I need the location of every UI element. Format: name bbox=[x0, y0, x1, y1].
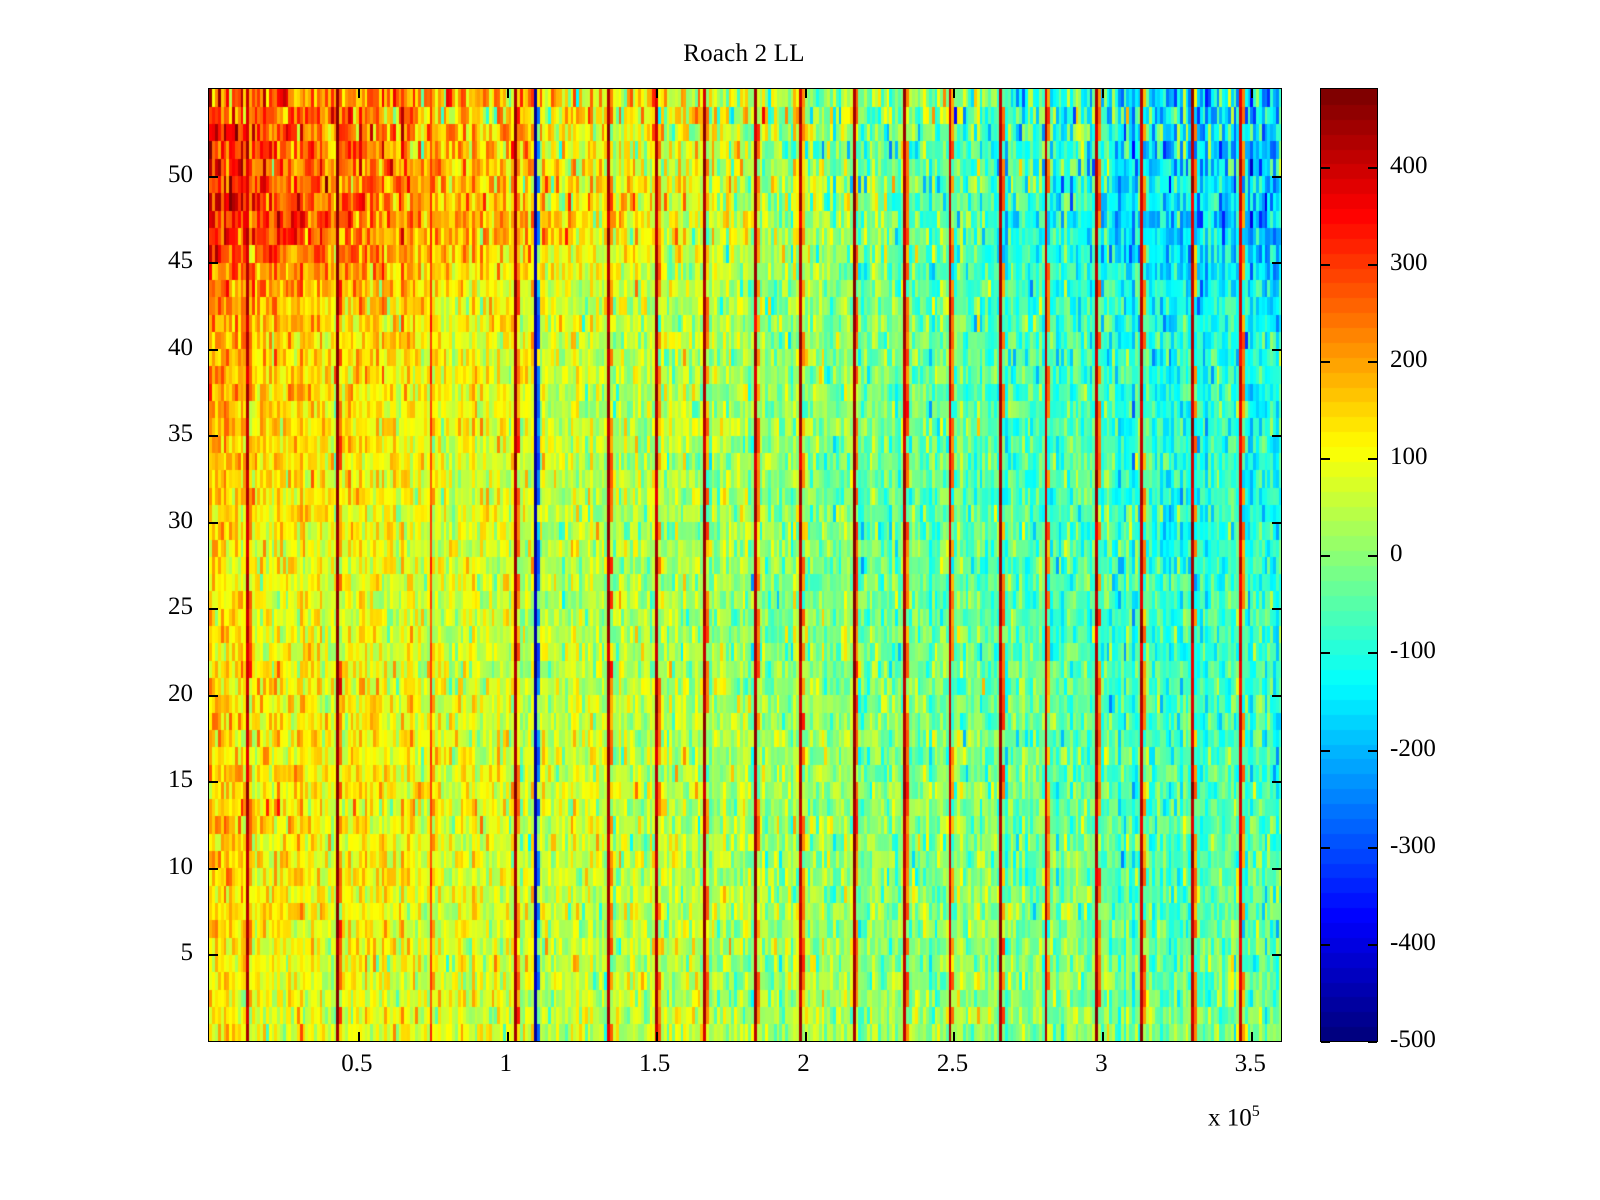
y-tick-mark-right bbox=[1272, 868, 1281, 870]
y-tick-mark bbox=[209, 522, 218, 524]
colorbar-tick-label: -100 bbox=[1390, 637, 1436, 665]
x-tick-label: 2 bbox=[744, 1050, 864, 1078]
y-tick-mark-right bbox=[1272, 695, 1281, 697]
y-tick-mark-right bbox=[1272, 349, 1281, 351]
x-tick-label: 3.5 bbox=[1190, 1050, 1310, 1078]
colorbar-tick-label: 400 bbox=[1390, 152, 1428, 180]
colorbar-tick-label: 200 bbox=[1390, 346, 1428, 374]
x-tick-mark bbox=[953, 1032, 955, 1041]
colorbar-tick-mark bbox=[1321, 944, 1330, 946]
x-tick-label: 0.5 bbox=[297, 1050, 417, 1078]
chart-title: Roach 2 LL bbox=[208, 40, 1280, 68]
y-tick-mark-right bbox=[1272, 262, 1281, 264]
y-tick-mark bbox=[209, 262, 218, 264]
colorbar-gradient bbox=[1321, 89, 1377, 1041]
x-tick-mark bbox=[1251, 1032, 1253, 1041]
x-tick-mark bbox=[507, 1032, 509, 1041]
x-tick-mark-top bbox=[805, 89, 807, 98]
heatmap-image[interactable] bbox=[209, 89, 1281, 1041]
colorbar-tick-mark bbox=[1321, 1041, 1330, 1043]
x-tick-mark bbox=[1102, 1032, 1104, 1041]
x-tick-mark-top bbox=[358, 89, 360, 98]
colorbar-tick-mark bbox=[1321, 167, 1330, 169]
x-tick-mark bbox=[656, 1032, 658, 1041]
colorbar-tick-mark-right bbox=[1368, 458, 1377, 460]
x-tick-mark-top bbox=[1102, 89, 1104, 98]
y-tick-label: 10 bbox=[113, 853, 193, 881]
y-tick-mark bbox=[209, 349, 218, 351]
colorbar-tick-mark-right bbox=[1368, 264, 1377, 266]
y-tick-label: 45 bbox=[113, 247, 193, 275]
y-tick-mark-right bbox=[1272, 522, 1281, 524]
colorbar-tick-mark-right bbox=[1368, 652, 1377, 654]
y-tick-mark bbox=[209, 781, 218, 783]
colorbar-tick-label: 300 bbox=[1390, 249, 1428, 277]
heatmap-axes[interactable] bbox=[208, 88, 1282, 1042]
colorbar-tick-label: -300 bbox=[1390, 832, 1436, 860]
x-tick-label: 2.5 bbox=[892, 1050, 1012, 1078]
y-tick-mark-right bbox=[1272, 781, 1281, 783]
y-tick-label: 20 bbox=[113, 680, 193, 708]
colorbar-tick-mark-right bbox=[1368, 1041, 1377, 1043]
y-tick-mark bbox=[209, 695, 218, 697]
colorbar-tick-mark bbox=[1321, 458, 1330, 460]
colorbar-tick-label: 100 bbox=[1390, 443, 1428, 471]
figure-canvas: Roach 2 LL 5101520253035404550 0.511.522… bbox=[0, 0, 1600, 1200]
colorbar-tick-mark bbox=[1321, 847, 1330, 849]
y-tick-mark bbox=[209, 435, 218, 437]
y-tick-label: 25 bbox=[113, 593, 193, 621]
y-tick-label: 30 bbox=[113, 507, 193, 535]
x-tick-mark bbox=[805, 1032, 807, 1041]
y-tick-label: 15 bbox=[113, 766, 193, 794]
colorbar-tick-mark bbox=[1321, 555, 1330, 557]
x-axis-exponent-label: x 105 bbox=[1208, 1103, 1260, 1132]
x-tick-label: 3 bbox=[1041, 1050, 1161, 1078]
colorbar-tick-mark-right bbox=[1368, 361, 1377, 363]
colorbar-tick-mark bbox=[1321, 750, 1330, 752]
x-tick-mark-top bbox=[507, 89, 509, 98]
y-tick-mark-right bbox=[1272, 608, 1281, 610]
y-tick-label: 50 bbox=[113, 161, 193, 189]
x-tick-mark-top bbox=[953, 89, 955, 98]
y-tick-mark bbox=[209, 954, 218, 956]
x-tick-mark-top bbox=[1251, 89, 1253, 98]
colorbar-tick-mark bbox=[1321, 264, 1330, 266]
x-tick-mark bbox=[358, 1032, 360, 1041]
colorbar-tick-label: 0 bbox=[1390, 540, 1403, 568]
y-tick-label: 5 bbox=[113, 939, 193, 967]
colorbar-tick-mark-right bbox=[1368, 555, 1377, 557]
colorbar-tick-mark-right bbox=[1368, 750, 1377, 752]
colorbar[interactable] bbox=[1320, 88, 1378, 1042]
x-tick-mark-top bbox=[656, 89, 658, 98]
x-exponent-base: x 10 bbox=[1208, 1104, 1252, 1131]
x-exponent-power: 5 bbox=[1252, 1103, 1260, 1120]
y-tick-mark-right bbox=[1272, 435, 1281, 437]
x-tick-label: 1 bbox=[446, 1050, 566, 1078]
y-tick-label: 35 bbox=[113, 420, 193, 448]
colorbar-tick-mark bbox=[1321, 361, 1330, 363]
y-tick-mark-right bbox=[1272, 176, 1281, 178]
colorbar-tick-mark-right bbox=[1368, 944, 1377, 946]
colorbar-tick-label: -400 bbox=[1390, 929, 1436, 957]
y-tick-mark-right bbox=[1272, 954, 1281, 956]
colorbar-tick-mark-right bbox=[1368, 847, 1377, 849]
y-tick-mark bbox=[209, 868, 218, 870]
y-tick-mark bbox=[209, 176, 218, 178]
y-tick-mark bbox=[209, 608, 218, 610]
colorbar-tick-mark-right bbox=[1368, 167, 1377, 169]
colorbar-tick-label: -200 bbox=[1390, 735, 1436, 763]
colorbar-tick-label: -500 bbox=[1390, 1026, 1436, 1054]
y-tick-label: 40 bbox=[113, 334, 193, 362]
colorbar-tick-mark bbox=[1321, 652, 1330, 654]
x-tick-label: 1.5 bbox=[595, 1050, 715, 1078]
